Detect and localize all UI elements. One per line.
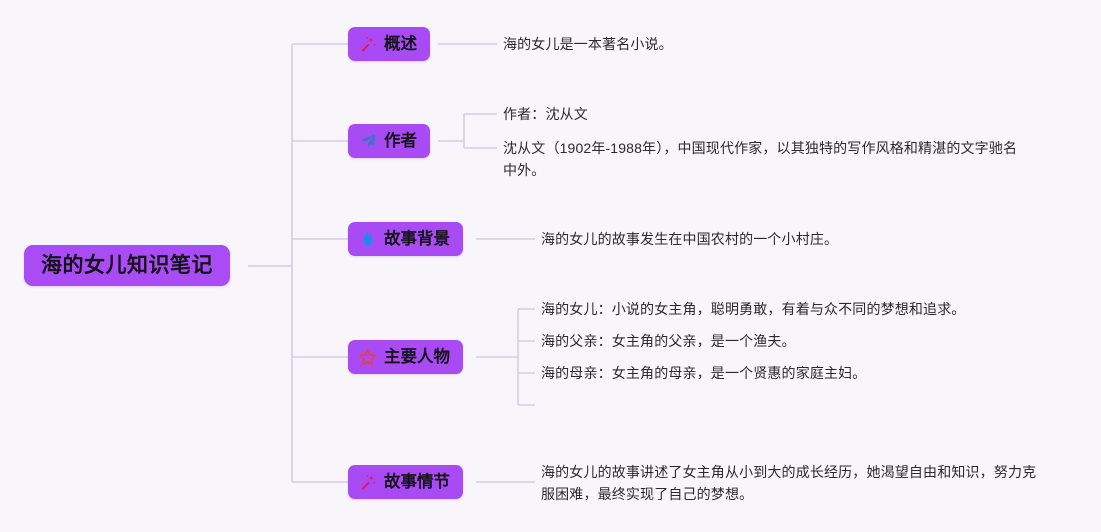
leaf-text: 沈从文（1902年-1988年），中国现代作家，以其独特的写作风格和精湛的文字驰… [503,137,1023,181]
branch-label: 故事情节 [384,474,450,491]
branch-label: 主要人物 [384,349,450,366]
root-node[interactable]: 海的女儿知识笔记 [24,245,230,286]
branch-label: 作者 [384,133,417,150]
root-node-label: 海的女儿知识笔记 [41,255,213,276]
mindmap-canvas[interactable]: 海的女儿知识笔记 概述 作者 故事背景 [0,0,1101,532]
branch-label: 故事背景 [384,231,450,248]
leaf-text: 海的女儿的故事发生在中国农村的一个小村庄。 [541,228,971,250]
flame-icon [358,230,377,249]
branch-label: 概述 [384,36,417,53]
leaf-text: 海的女儿的故事讲述了女主角从小到大的成长经历，她渴望自由和知识，努力克服困难，最… [541,461,1041,505]
branch-node-background[interactable]: 故事背景 [348,222,463,256]
leaf-text: 海的母亲：女主角的母亲，是一个贤惠的家庭主妇。 [541,362,971,384]
branch-node-author[interactable]: 作者 [348,124,430,158]
paper-plane-icon [358,132,377,151]
leaf-text: 海的父亲：女主角的父亲，是一个渔夫。 [541,330,971,352]
leaf-text: 作者：沈从文 [503,103,923,125]
branch-node-plot[interactable]: 故事情节 [348,465,463,499]
branch-node-characters[interactable]: 主要人物 [348,340,463,374]
branch-node-overview[interactable]: 概述 [348,27,430,61]
star-icon [358,348,377,367]
leaf-text: 海的女儿：小说的女主角，聪明勇敢，有着与众不同的梦想和追求。 [541,298,1011,320]
magic-wand-icon [358,473,377,492]
leaf-text: 海的女儿是一本著名小说。 [503,33,923,55]
magic-wand-icon [358,35,377,54]
